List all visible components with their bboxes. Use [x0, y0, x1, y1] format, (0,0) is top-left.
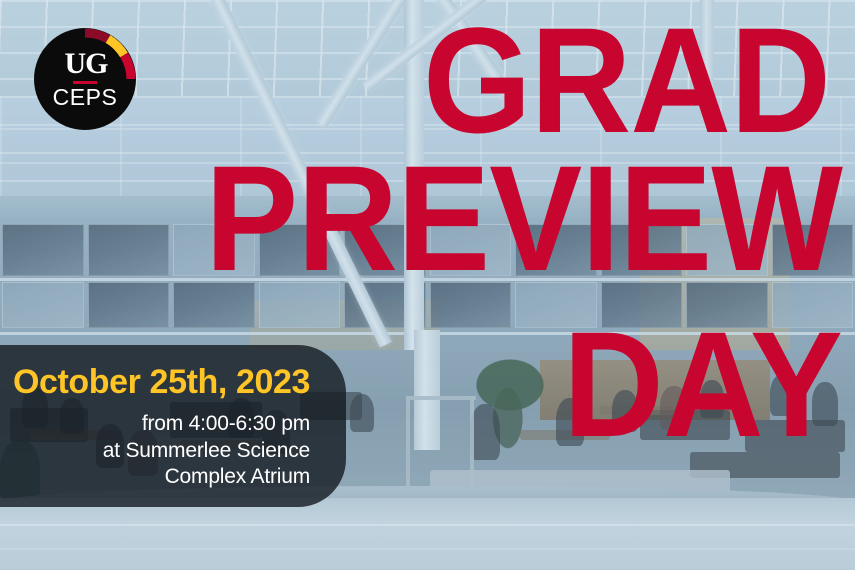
headline-line-preview: PREVIEW: [50, 152, 842, 284]
grad-preview-day-poster: UG CEPS GRAD PREVIEW DAY October 25th, 2…: [0, 0, 855, 570]
event-details-panel: October 25th, 2023 from 4:00-6:30 pm at …: [0, 345, 346, 507]
headline-line-grad: GRAD: [49, 14, 830, 146]
event-time: from 4:00-6:30 pm: [142, 411, 310, 438]
logo-ceps-text: CEPS: [53, 86, 118, 109]
event-venue-1: at Summerlee Science: [103, 438, 310, 465]
logo-ug-text: UG: [63, 49, 108, 79]
logo-wordmark: UG CEPS: [34, 28, 136, 130]
ug-ceps-logo: UG CEPS: [34, 28, 136, 130]
event-date: October 25th, 2023: [13, 363, 310, 402]
event-venue-2: Complex Atrium: [165, 464, 310, 491]
